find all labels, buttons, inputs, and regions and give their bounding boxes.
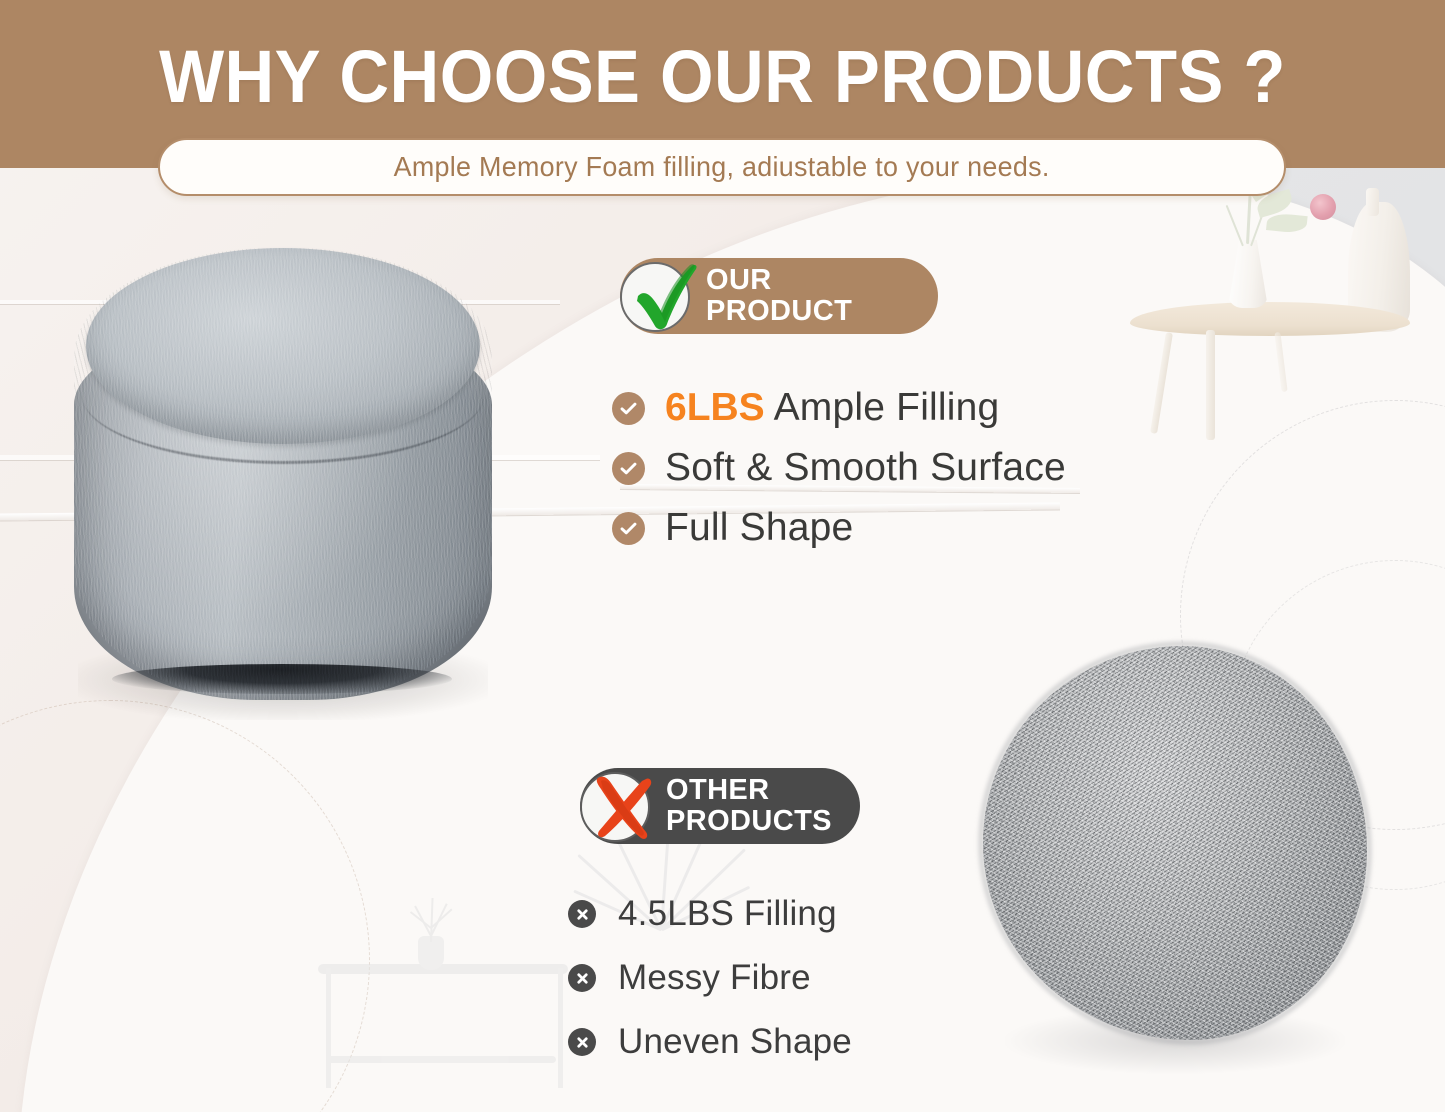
feature-row: 4.5LBS Filling (568, 894, 852, 934)
x-icon (568, 1028, 596, 1056)
feature-text: 4.5LBS Filling (618, 894, 837, 934)
our-product-image (68, 240, 498, 720)
x-icon (568, 964, 596, 992)
our-product-badge: OUR PRODUCT (620, 258, 938, 334)
feature-row: 6LBS Ample Filling (612, 386, 1066, 430)
check-icon (612, 452, 645, 485)
feature-text: Messy Fibre (618, 958, 811, 998)
other-product-image (975, 640, 1375, 1080)
feature-text: Soft & Smooth Surface (665, 446, 1066, 490)
side-table-leg (1206, 330, 1215, 440)
pouf-base-trim (112, 664, 452, 694)
decor-side-table-with-vases (1110, 180, 1445, 440)
background-ghost-plant (396, 894, 466, 942)
side-table-leg (1150, 332, 1173, 434)
dried-stem (1226, 205, 1244, 247)
white-vase (1228, 240, 1268, 308)
other-products-feature-list: 4.5LBS Filling Messy Fibre Uneven Shape (568, 894, 852, 1086)
subtitle-text: Ample Memory Foam filling, adiustable to… (394, 151, 1050, 183)
our-product-badge-line2: PRODUCT (706, 297, 904, 327)
subtitle-pill: Ample Memory Foam filling, adiustable to… (158, 138, 1286, 196)
dried-stem (1246, 194, 1252, 244)
feature-row: Soft & Smooth Surface (612, 446, 1066, 490)
our-product-badge-line1: OUR (706, 266, 904, 296)
our-product-feature-list: 6LBS Ample Filling Soft & Smooth Surface… (612, 386, 1066, 566)
feature-row: Uneven Shape (568, 1022, 852, 1062)
side-table-leg (1274, 332, 1287, 392)
pink-dried-bloom (1310, 194, 1336, 220)
check-icon (612, 392, 645, 425)
feature-row: Full Shape (612, 506, 1066, 550)
blob-body (983, 646, 1367, 1040)
red-x-mark-icon (574, 758, 670, 854)
tall-vase-neck (1366, 188, 1379, 216)
feature-text: Uneven Shape (618, 1022, 852, 1062)
green-check-mark-icon (616, 246, 712, 342)
feature-rest: Ample Filling (765, 386, 1000, 429)
pouf-seam (82, 326, 484, 464)
check-icon (612, 512, 645, 545)
side-table-top (1130, 302, 1410, 336)
product-comparison-infographic: WHY CHOOSE OUR PRODUCTS ? Ample Memory F… (0, 0, 1445, 1112)
other-products-badge-line2: PRODUCTS (666, 807, 826, 837)
feature-highlight: 6LBS (665, 386, 765, 429)
dried-leaf (1266, 212, 1308, 234)
other-products-badge-line1: OTHER (666, 776, 826, 806)
other-products-badge: OTHER PRODUCTS (580, 768, 860, 844)
feature-row: Messy Fibre (568, 958, 852, 998)
page-title: WHY CHOOSE OUR PRODUCTS ? (51, 34, 1395, 119)
feature-text: Full Shape (665, 506, 853, 550)
x-icon (568, 900, 596, 928)
feature-text: 6LBS Ample Filling (665, 386, 999, 430)
